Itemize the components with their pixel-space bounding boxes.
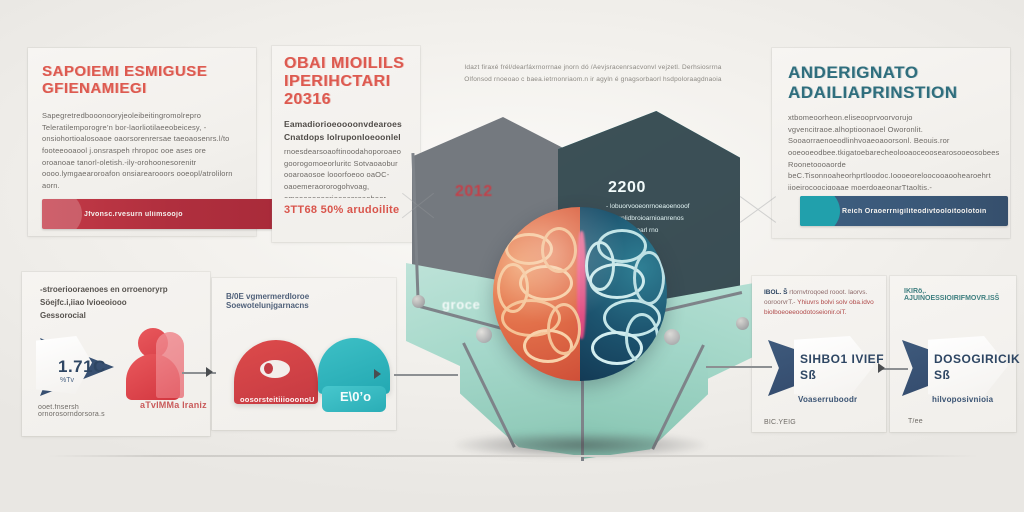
panel-top-mid-heading-1: OBAI MIOILILS	[284, 56, 404, 72]
cursor-pointer-icon-3	[902, 336, 1016, 400]
brain-hemisphere-icon	[493, 207, 667, 381]
top-caption-line-1: Idazt firaxé frél/dearfáxrnorrnae jnorn …	[448, 62, 738, 74]
bl-heading-line-3: Gessorocial	[40, 310, 190, 323]
bl-heading-line-1: -stroeriooraenoes en orroenoryrp	[40, 284, 190, 297]
panel-top-mid-heading-2: IPERIHCTARI	[284, 74, 391, 90]
connector-mid-to-cube	[394, 374, 458, 376]
cube-face-white-label: 2012	[455, 183, 493, 201]
panel-top-left-banner-text: Jfvonsc.rvesurn uliimsoojo	[84, 211, 183, 218]
top-caption: Idazt firaxé frél/dearfáxrnorrnae jnorn …	[448, 62, 738, 87]
panel-bottom-right-2-caption: hilvoposivnioia	[932, 395, 1020, 404]
panel-bottom-mid-heading: B/0E vgmermerdloroe Soewotelunjgarnacns	[226, 292, 386, 310]
panel-bottom-left-caption-right: aTvlMMa lraniz	[140, 400, 210, 410]
panel-top-mid-subhead-2: Cnatdops lolruponloeoonlel	[284, 131, 410, 144]
panel-top-right-heading-2: ADAILIAPRINSTION	[788, 84, 958, 101]
panel-bottom-right-1-value: SIHBO1 IVIEF	[800, 352, 884, 366]
top-caption-line-2: Olfonsod rnoeoao c baea.ietrnonriaom.n i…	[448, 74, 738, 86]
panel-bottom-right-1-caption: Voaserruboodr	[798, 395, 886, 404]
panel-bottom-right-2-value: DOSOGIRICIK	[934, 352, 1020, 366]
panel-bottom-right-1-heading: IBOL. Š rtornvtroqoed rooot. laorvs. oor…	[764, 288, 884, 317]
panel-bottom-left-stat: 1.71C	[58, 357, 106, 377]
panel-bottom-left-stat-unit: %Tv	[60, 377, 74, 384]
cube-joint-sphere-left	[476, 327, 492, 343]
panel-bottom-right-1-value-2: Sß	[800, 368, 816, 382]
panel-bottom-left-heading: -stroeriooraenoes en orroenoryrp Söejfc.…	[40, 284, 190, 322]
cube-joint-right	[736, 317, 749, 330]
panel-top-right-banner-text: Reich Oraoerrnigiliteodivtooloitoolotoin	[842, 208, 987, 215]
panel-top-left-body: Sapegretredbooonooryjeoleibeitingromolre…	[42, 110, 240, 188]
cube-joint-left	[412, 295, 425, 308]
decor-cross-right	[736, 188, 780, 232]
cursor-pointer-icon-2	[768, 336, 882, 400]
panel-top-left-heading-2: GFIENAMIEGI	[42, 81, 247, 96]
panel-bottom-right-2-heading: IKIRö,. AJUINOESSIOIRIFMOVR.ISŠ	[904, 288, 1014, 302]
panel-bottom-right-1-footnote: BIC.YEIG	[764, 419, 834, 426]
panel-top-left-banner[interactable]: Jfvonsc.rvesurn uliimsoojo	[42, 199, 274, 229]
panel-top-right-heading-1: ANDERIGNATO	[788, 64, 919, 81]
central-cube-graphic: 2012 2200 - lobuorvooeonrnoeaoenooof Bea…	[400, 95, 760, 455]
cube-face-teal-label: 2200	[608, 179, 646, 197]
connector-cube-to-right	[706, 366, 772, 368]
connector-arrow-mid	[374, 369, 381, 379]
connector-arrow-right	[878, 363, 885, 373]
panel-top-mid-kicker: 3TT68 50% arudoilite	[284, 204, 399, 216]
bl-heading-line-2: Söejfc.i,iiao lvioeoiooo	[40, 297, 190, 310]
decor-cross-left	[398, 186, 438, 226]
panel-bottom-left-caption-left: ooet.fnsersh ornorosorndorsora.s	[38, 404, 134, 418]
cube-face-mint-label: groce	[442, 297, 480, 312]
person-icon	[122, 328, 184, 400]
connector-arrow-left-1	[206, 367, 213, 377]
floor-line	[48, 455, 978, 457]
panel-top-right-body: xtbomeoorheon.eliseooprvoorvorujo vgvenc…	[788, 112, 1000, 190]
panel-top-mid-subhead-1: Eamadiorioeoooonvdearoes	[284, 118, 410, 131]
panel-bottom-mid-right-value: E\0’o	[340, 389, 371, 404]
banner-blob-red	[42, 199, 82, 229]
banner-blob-teal	[800, 196, 840, 226]
panel-top-right-banner[interactable]: Reich Oraoerrnigiliteodivtooloitoolotoin	[800, 196, 1008, 226]
panel-bottom-mid-left-caption: oosorsteitiiiooonoU	[240, 395, 316, 404]
panel-bottom-right-2-footnote: T/ee	[908, 418, 958, 425]
panel-top-left-heading-1: SAPOIEMI ESMIGUSE	[42, 64, 247, 79]
panel-bottom-right-2-value-2: Sß	[934, 368, 950, 382]
poster-canvas: SAPOIEMI ESMIGUSE GFIENAMIEGI Sapegretre…	[0, 0, 1024, 512]
panel-top-mid-body: rnoesdearsoaoftinoodahoporoaeo goorogomo…	[284, 146, 410, 198]
panel-top-mid-heading-3: 20316	[284, 92, 331, 108]
br1-heading-part-1: IBOL. Š	[764, 289, 787, 296]
